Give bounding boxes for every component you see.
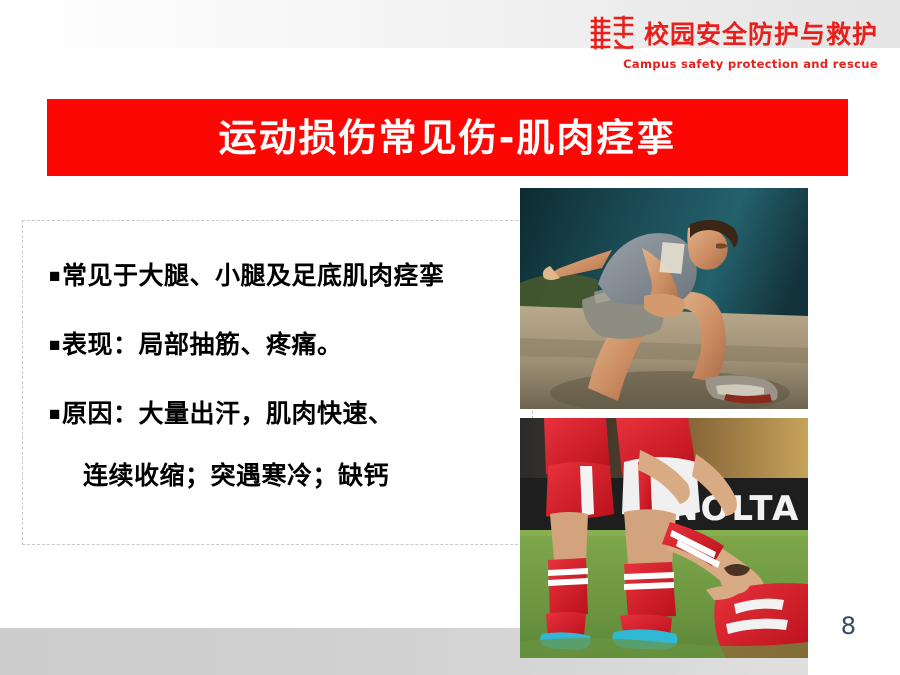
runner-calf-cramp-illustration (520, 188, 808, 409)
list-item: ■常见于大腿、小腿及足底肌肉痉挛 (49, 263, 522, 292)
title-banner: 运动损伤常见伤-肌肉痉挛 (47, 99, 848, 176)
brand-row: 校园安全防护与救护 (589, 14, 878, 54)
brand-name-en: Campus safety protection and rescue (623, 57, 878, 71)
list-item-label: 原因：大量出汗，肌肉快速、 (62, 401, 394, 428)
content-text-box: ■常见于大腿、小腿及足底肌肉痉挛 ■表现：局部抽筋、疼痛。 ■原因：大量出汗，肌… (22, 220, 533, 545)
seal-stamp-icon (589, 14, 635, 54)
bullet-marker: ■ (49, 404, 61, 425)
list-item-label: 连续收缩；突遇寒冷；缺钙 (83, 463, 389, 490)
list-item: ■表现：局部抽筋、疼痛。 (49, 332, 522, 361)
brand-name-cn: 校园安全防护与救护 (644, 22, 878, 47)
list-item-label: 常见于大腿、小腿及足底肌肉痉挛 (62, 263, 445, 290)
list-item: ■原因：大量出汗，肌肉快速、 (49, 401, 522, 430)
bullet-marker: ■ (49, 335, 61, 356)
page-number: 8 (841, 614, 856, 638)
brand-logo: 校园安全防护与救护 Campus safety protection and r… (589, 14, 878, 71)
list-item-continuation: 连续收缩；突遇寒冷；缺钙 (49, 463, 522, 492)
page-title: 运动损伤常见伤-肌肉痉挛 (219, 119, 677, 157)
soccer-player-cramp-photo: NOLTA (520, 418, 808, 658)
bullet-marker: ■ (49, 266, 61, 287)
list-item-label: 表现：局部抽筋、疼痛。 (62, 332, 343, 359)
slide-canvas: 校园安全防护与救护 Campus safety protection and r… (0, 0, 900, 675)
bullet-list: ■常见于大腿、小腿及足底肌肉痉挛 ■表现：局部抽筋、疼痛。 ■原因：大量出汗，肌… (49, 263, 522, 492)
